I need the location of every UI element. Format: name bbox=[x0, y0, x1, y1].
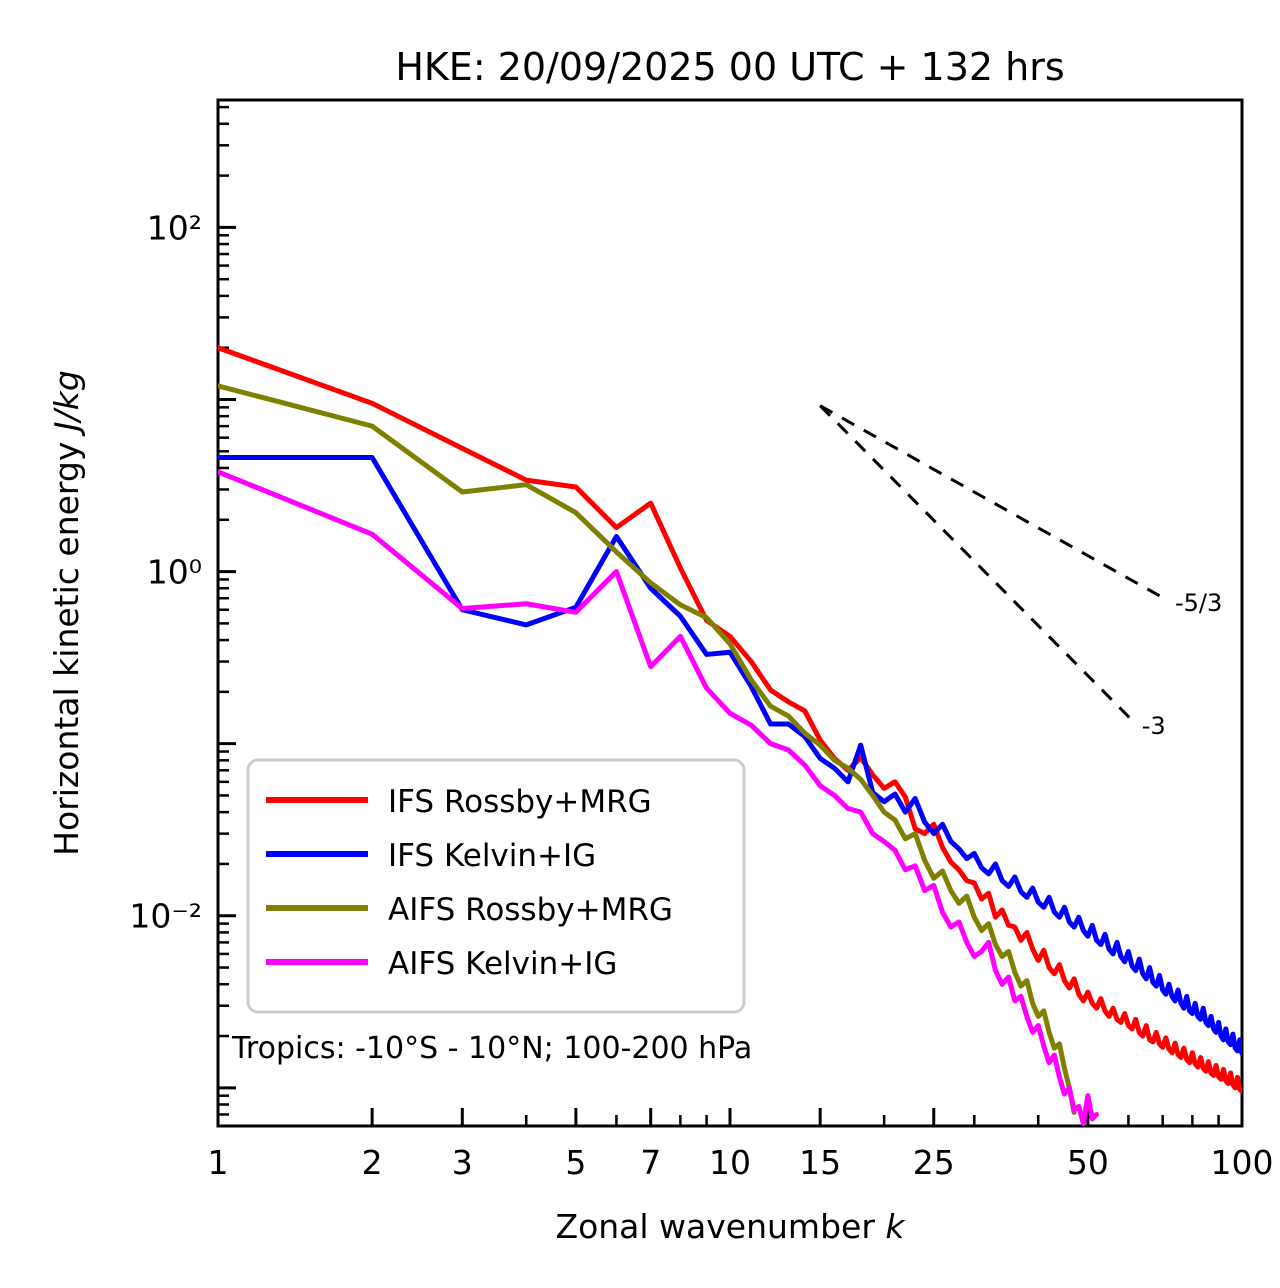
legend-label-2: AIFS Rossby+MRG bbox=[388, 892, 673, 928]
page-title: HKE: 20/09/2025 00 UTC + 132 hrs bbox=[395, 45, 1064, 89]
x-tick-label-50: 50 bbox=[1067, 1143, 1109, 1182]
x-tick-label-3: 3 bbox=[452, 1143, 473, 1182]
chart-page: HKE: 20/09/2025 00 UTC + 132 hrs12357101… bbox=[0, 0, 1280, 1288]
x-tick-label-25: 25 bbox=[913, 1143, 955, 1182]
x-tick-label-100: 100 bbox=[1211, 1143, 1274, 1182]
slope-label--3: -3 bbox=[1142, 712, 1166, 740]
legend-label-3: AIFS Kelvin+IG bbox=[388, 946, 617, 982]
x-tick-label-10: 10 bbox=[709, 1143, 751, 1182]
legend-label-0: IFS Rossby+MRG bbox=[388, 784, 652, 820]
y-tick-label-1: 10⁰ bbox=[147, 553, 202, 592]
legend-label-1: IFS Kelvin+IG bbox=[388, 838, 596, 874]
slope-label--5/3: -5/3 bbox=[1175, 589, 1222, 617]
y-axis-label: Horizontal kinetic energy J/kg bbox=[47, 370, 86, 856]
x-tick-label-1: 1 bbox=[208, 1143, 229, 1182]
region-annotation: Tropics: -10°S - 10°N; 100-200 hPa bbox=[231, 1031, 752, 1066]
y-tick-label-2: 10⁻² bbox=[129, 897, 202, 936]
x-tick-label-2: 2 bbox=[362, 1143, 383, 1182]
x-tick-label-5: 5 bbox=[565, 1143, 586, 1182]
x-axis-label: Zonal wavenumber k bbox=[555, 1207, 906, 1246]
y-tick-label-0: 10² bbox=[147, 208, 202, 247]
hke-spectrum-chart: HKE: 20/09/2025 00 UTC + 132 hrs12357101… bbox=[0, 0, 1280, 1288]
x-tick-label-7: 7 bbox=[640, 1143, 661, 1182]
x-tick-label-15: 15 bbox=[799, 1143, 841, 1182]
